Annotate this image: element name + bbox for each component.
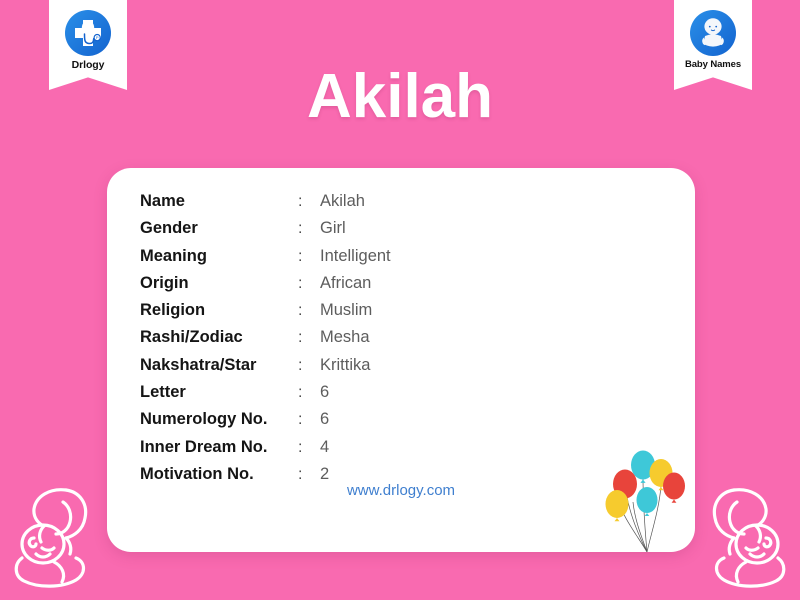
badge-drlogy-ribbon: P Drlogy [49, 0, 127, 90]
row-separator: : [298, 439, 320, 457]
row-value: Muslim [320, 301, 372, 320]
table-row: Nakshatra/Star : Krittika [140, 356, 570, 383]
row-label: Letter [140, 383, 298, 402]
row-separator: : [298, 329, 320, 347]
svg-text:P: P [96, 35, 99, 40]
table-row: Meaning : Intelligent [140, 247, 570, 274]
mother-and-baby-outline-icon-right [698, 476, 794, 594]
row-label: Rashi/Zodiac [140, 328, 298, 347]
balloons-icon [603, 448, 689, 552]
row-value: Mesha [320, 328, 370, 347]
row-label: Meaning [140, 247, 298, 266]
table-row: Numerology No. : 6 [140, 410, 570, 437]
badge-drlogy-label: Drlogy [49, 60, 127, 71]
row-label: Religion [140, 301, 298, 320]
row-value: African [320, 274, 371, 293]
row-label: Gender [140, 219, 298, 238]
row-value: 6 [320, 410, 329, 429]
badge-baby-names[interactable]: Baby Names [674, 0, 752, 90]
mother-and-baby-outline-icon-left [6, 476, 102, 594]
row-label: Origin [140, 274, 298, 293]
badge-baby-names-ribbon: Baby Names [674, 0, 752, 90]
row-separator: : [298, 248, 320, 266]
row-label: Nakshatra/Star [140, 356, 298, 375]
row-separator: : [298, 302, 320, 320]
badge-drlogy[interactable]: P Drlogy [49, 0, 127, 90]
table-row: Rashi/Zodiac : Mesha [140, 328, 570, 355]
name-details-table: Name : Akilah Gender : Girl Meaning : In… [140, 192, 570, 492]
row-separator: : [298, 275, 320, 293]
row-separator: : [298, 357, 320, 375]
table-row: Inner Dream No. : 4 [140, 438, 570, 465]
row-separator: : [298, 384, 320, 402]
row-value: 6 [320, 383, 329, 402]
row-label: Inner Dream No. [140, 438, 298, 457]
row-value: Girl [320, 219, 346, 238]
website-url-link[interactable]: www.drlogy.com [107, 482, 695, 499]
row-value: 4 [320, 438, 329, 457]
row-separator: : [298, 193, 320, 211]
row-value: Akilah [320, 192, 365, 211]
row-value: Krittika [320, 356, 370, 375]
table-row: Origin : African [140, 274, 570, 301]
row-label: Name [140, 192, 298, 211]
baby-avatar-icon [689, 9, 737, 57]
table-row: Name : Akilah [140, 192, 570, 219]
badge-baby-names-label: Baby Names [674, 60, 752, 70]
row-label: Numerology No. [140, 410, 298, 429]
name-details-card: Name : Akilah Gender : Girl Meaning : In… [107, 168, 695, 552]
table-row: Religion : Muslim [140, 301, 570, 328]
table-row: Letter : 6 [140, 383, 570, 410]
table-row: Gender : Girl [140, 219, 570, 246]
row-value: Intelligent [320, 247, 391, 266]
row-separator: : [298, 411, 320, 429]
drlogy-medical-cross-logo-icon: P [64, 9, 112, 57]
row-separator: : [298, 220, 320, 238]
